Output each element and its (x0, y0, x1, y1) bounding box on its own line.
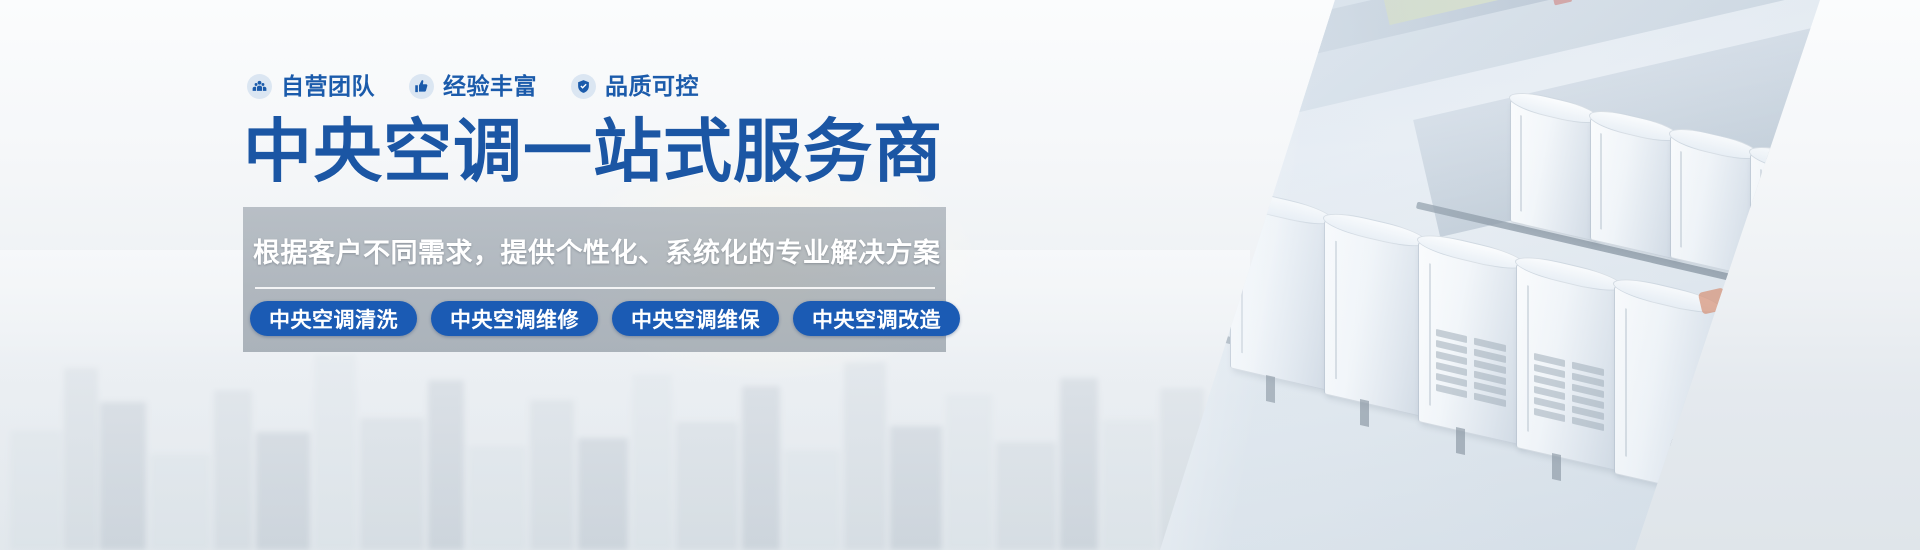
panel-divider (255, 287, 935, 289)
service-tag-repair[interactable]: 中央空调维修 (431, 301, 598, 336)
service-tag-cleaning[interactable]: 中央空调清洗 (250, 301, 417, 336)
hero-banner: 自营团队 经验丰富 品质可控 (0, 0, 1920, 550)
feature-badge-1: 经验丰富 (409, 74, 537, 99)
page-title: 中央空调一站式服务商 (243, 116, 943, 188)
feature-badge-label: 经验丰富 (443, 75, 537, 98)
hero-content: 自营团队 经验丰富 品质可控 (0, 0, 1000, 550)
feature-badge-row: 自营团队 经验丰富 品质可控 (247, 74, 699, 99)
service-tag-row: 中央空调清洗 中央空调维修 中央空调维保 中央空调改造 (250, 301, 960, 336)
feature-badge-2: 品质可控 (571, 74, 699, 99)
feature-badge-label: 品质可控 (605, 75, 699, 98)
thumbs-up-icon (409, 74, 434, 99)
people-group-icon (247, 74, 272, 99)
service-tag-maintenance[interactable]: 中央空调维保 (612, 301, 779, 336)
subtitle-text: 根据客户不同需求，提供个性化、系统化的专业解决方案 (253, 240, 941, 267)
shield-check-icon (571, 74, 596, 99)
service-tag-retrofit[interactable]: 中央空调改造 (793, 301, 960, 336)
feature-badge-label: 自营团队 (281, 75, 375, 98)
feature-badge-0: 自营团队 (247, 74, 375, 99)
